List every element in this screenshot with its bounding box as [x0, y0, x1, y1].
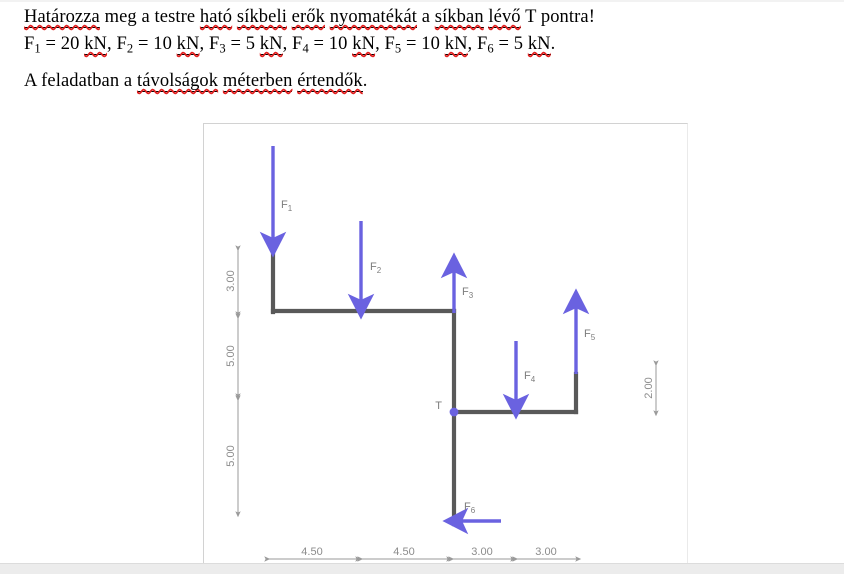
force-value-f2: F2 = 10 kN	[116, 34, 199, 54]
force-equals: = 5	[494, 34, 528, 54]
force-symbol: F	[477, 34, 487, 54]
force-unit: kN	[528, 34, 551, 55]
force-symbol: F	[385, 34, 395, 54]
force-value-f1: F1 = 20 kN	[24, 34, 107, 54]
problem-line-1: Határozza meg a testre ható síkbeli erők…	[24, 5, 824, 30]
problem-line-3-seg-5: értendők	[297, 71, 363, 92]
problem-line-1-seg-7	[325, 7, 330, 27]
force-equals: = 5	[226, 34, 260, 54]
force-symbol: F	[292, 34, 302, 54]
point-t-marker	[450, 408, 459, 417]
force-symbol: F	[209, 34, 219, 54]
force-separator: ,	[468, 34, 477, 54]
force-value-f3: F3 = 5 kN	[209, 34, 283, 54]
dimension-chain-bottom: 4.50 4.50 3.00 3.00	[267, 546, 578, 559]
problem-line-1-seg-4: síkbeli	[237, 7, 287, 28]
problem-line-1-seg-6: erők	[292, 7, 325, 28]
force-symbol: F	[24, 34, 34, 54]
dimension-bottom-2: 4.50	[393, 546, 414, 558]
figure-frame: T F1 F2 F3 F4	[203, 123, 688, 564]
statics-diagram: T F1 F2 F3 F4	[204, 124, 687, 564]
problem-line-1-seg-9: a	[417, 7, 435, 27]
force-label-f6: F6	[464, 501, 476, 515]
force-unit: kN	[84, 34, 107, 55]
force-unit: kN	[352, 34, 375, 55]
force-label-f4: F4	[524, 370, 536, 384]
problem-line-3-seg-3: méterben	[223, 71, 293, 92]
force-value-f5: F5 = 10 kN	[385, 34, 468, 54]
force-label-f3: F3	[462, 286, 474, 300]
force-separator: ,	[375, 34, 384, 54]
problem-line-1-seg-10: síkban	[435, 7, 484, 28]
document-page: Határozza meg a testre ható síkbeli erők…	[0, 0, 844, 563]
force-separator: ,	[199, 34, 208, 54]
beam-top-segment	[273, 311, 454, 312]
problem-line-3-seg-6: .	[363, 71, 368, 91]
force-unit: kN	[177, 34, 200, 55]
problem-line-1-seg-13: T pontra!	[521, 7, 595, 27]
problem-line-forces: F1 = 20 kN, F2 = 10 kN, F3 = 5 kN, F4 = …	[24, 32, 824, 57]
problem-line-1-seg-2: ható	[200, 7, 232, 28]
force-equals: = 10	[309, 34, 352, 54]
dimension-chain-left: 3.00 5.00 5.00	[225, 248, 238, 514]
force-unit: kN	[445, 34, 468, 55]
force-equals: = 20	[41, 34, 84, 54]
dimension-bottom-4: 3.00	[535, 546, 556, 558]
force-label-f2: F2	[370, 261, 382, 275]
problem-line-3: A feladatban a távolságok méterben érten…	[24, 69, 824, 94]
problem-line-3-seg-0: A feladatban a	[24, 71, 137, 91]
force-symbol: F	[116, 34, 126, 54]
force-arrow-f2: F2	[361, 221, 382, 306]
problem-line-1-seg-0: Határozza	[24, 7, 100, 28]
force-equals: = 10	[133, 34, 176, 54]
force-separator: .	[551, 34, 556, 54]
force-unit: kN	[260, 34, 283, 55]
force-value-f6: F6 = 5 kN	[477, 34, 551, 54]
force-arrow-f5: F5	[576, 302, 596, 374]
dimension-right-1: 2.00	[643, 377, 655, 398]
force-equals: = 10	[401, 34, 444, 54]
problem-statement: Határozza meg a testre ható síkbeli erők…	[24, 5, 824, 94]
dimension-left-1: 3.00	[225, 270, 237, 291]
problem-line-1-seg-8: nyomatékát	[330, 7, 417, 28]
dimension-left-3: 5.00	[225, 445, 237, 466]
force-arrow-f6: F6	[456, 501, 501, 521]
dimension-bottom-3: 3.00	[471, 546, 492, 558]
force-arrow-f1: F1	[273, 146, 293, 244]
force-arrow-f3: F3	[454, 266, 474, 313]
problem-line-1-seg-12: lévő	[488, 7, 520, 28]
force-value-f4: F4 = 10 kN	[292, 34, 375, 54]
problem-line-1-seg-1: meg a testre	[100, 7, 200, 27]
force-label-f1: F1	[281, 199, 293, 213]
force-label-f5: F5	[584, 328, 596, 342]
point-t-label: T	[435, 400, 442, 412]
dimension-right: 2.00	[643, 363, 656, 413]
force-separator: ,	[283, 34, 292, 54]
dimension-bottom-1: 4.50	[301, 546, 322, 558]
problem-line-3-seg-1: távolságok	[137, 71, 218, 92]
page-top-rule	[0, 0, 844, 2]
problem-line-1-seg-5	[287, 7, 292, 27]
beam-structure	[273, 250, 576, 524]
app-bottom-gutter	[0, 563, 844, 574]
dimension-left-2: 5.00	[225, 345, 237, 366]
force-arrow-f4: F4	[516, 341, 536, 406]
